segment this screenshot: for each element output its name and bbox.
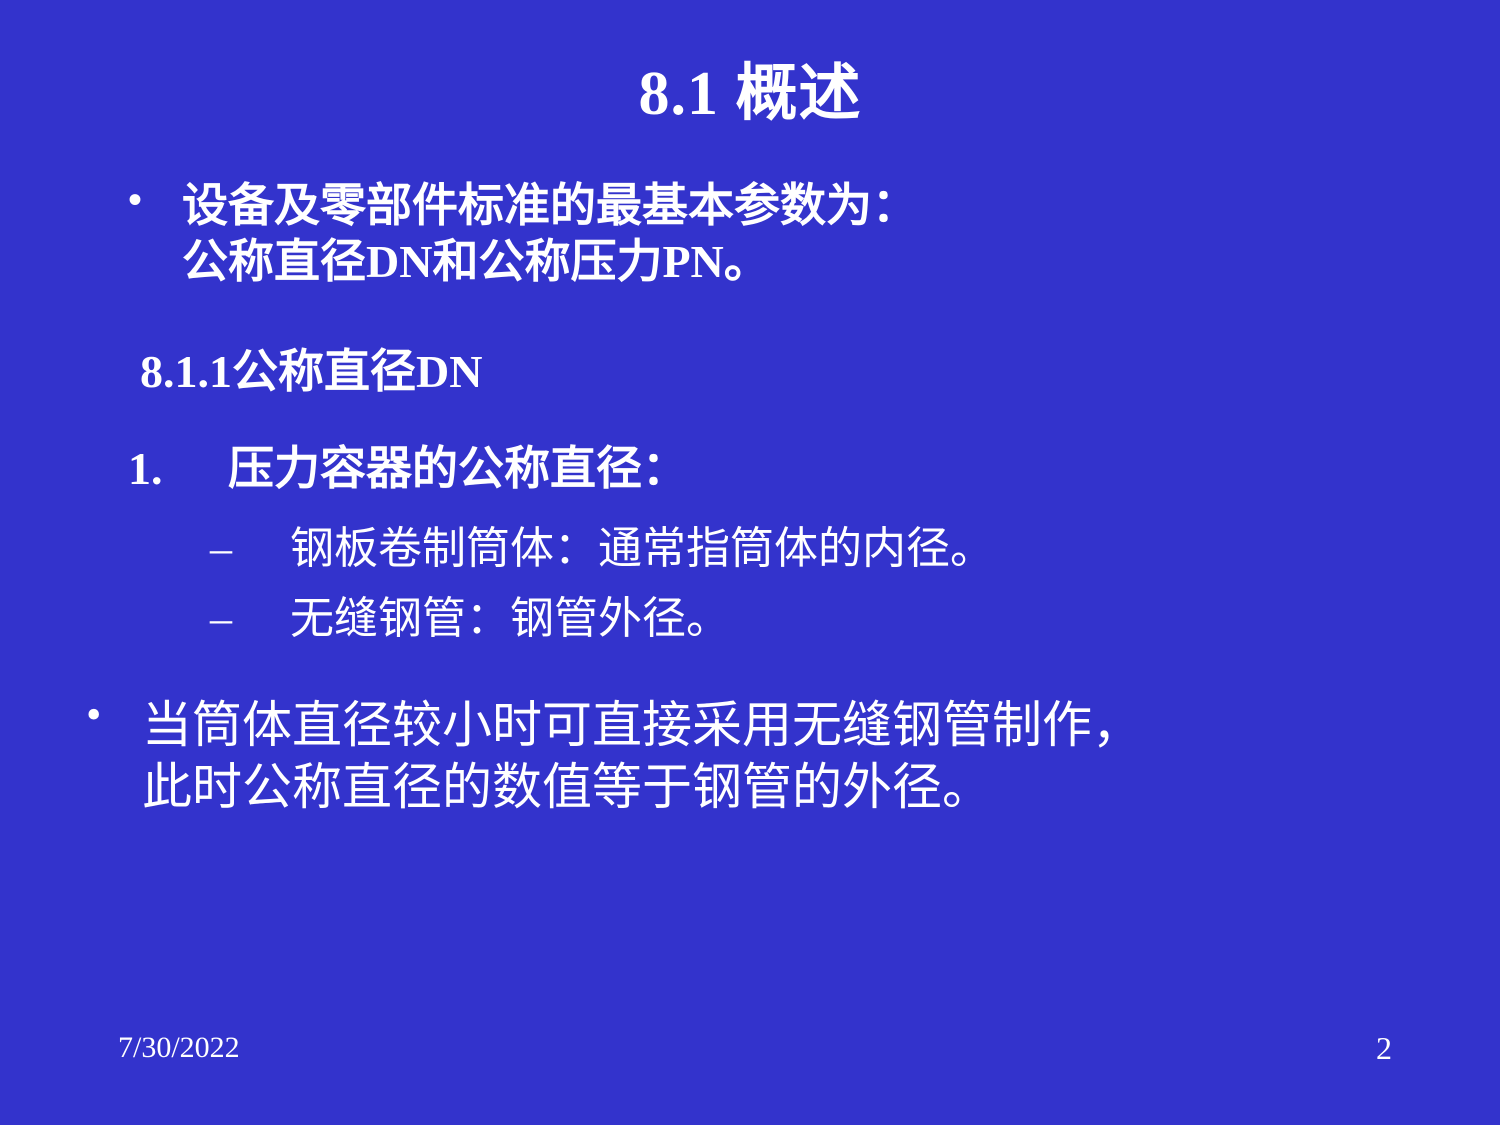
presentation-slide: 8.1 概述 • 设备及零部件标准的最基本参数为： 公称直径DN和公称压力PN。…: [0, 0, 1500, 1125]
dash-bullet-icon: –: [210, 593, 232, 646]
bullet-item-1-line-1: 设备及零部件标准的最基本参数为：: [182, 178, 1460, 234]
numbered-item-1: 1. 压力容器的公称直径：: [0, 441, 1500, 496]
footer-date: 7/30/2022: [118, 1031, 240, 1065]
bullet-item-1-line-2: 公称直径DN和公称压力PN。: [182, 234, 1460, 290]
sub-item-1: – 钢板卷制筒体：通常指筒体的内径。: [0, 523, 1500, 576]
slide-body: • 设备及零部件标准的最基本参数为： 公称直径DN和公称压力PN。 8.1.1公…: [0, 178, 1500, 818]
bullet-item-2: • 当筒体直径较小时可直接采用无缝钢管制作， 此时公称直径的数值等于钢管的外径。: [0, 694, 1500, 818]
dash-bullet-icon: –: [210, 523, 232, 576]
sub-item-1-text: 钢板卷制筒体：通常指筒体的内径。: [290, 523, 994, 574]
sub-item-2-text: 无缝钢管：钢管外径。: [290, 593, 730, 644]
sub-item-2: – 无缝钢管：钢管外径。: [0, 593, 1500, 646]
round-bullet-icon: •: [128, 176, 142, 225]
bullet-item-1: • 设备及零部件标准的最基本参数为： 公称直径DN和公称压力PN。: [0, 178, 1500, 290]
numbered-item-1-text: 压力容器的公称直径：: [228, 443, 688, 494]
subheading-8-1-1: 8.1.1公称直径DN: [0, 344, 1500, 399]
footer-page-number: 2: [1376, 1030, 1392, 1067]
bullet-item-2-line-1: 当筒体直径较小时可直接采用无缝钢管制作，: [142, 694, 1440, 756]
round-bullet-icon: •: [86, 688, 101, 743]
numbered-item-1-marker: 1.: [128, 441, 163, 496]
slide-title: 8.1 概述: [0, 62, 1500, 127]
bullet-item-2-line-2: 此时公称直径的数值等于钢管的外径。: [142, 756, 1440, 818]
